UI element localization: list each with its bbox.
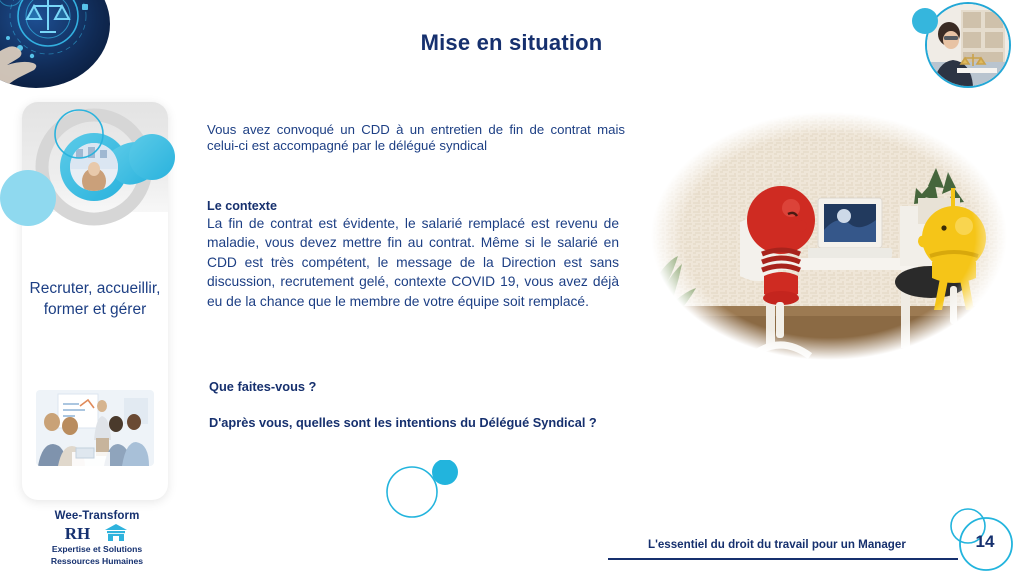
footer-text: L'essentiel du droit du travail pour un … [648,538,906,551]
pagoda-icon [103,524,129,542]
context-body: La fin de contrat est évidente, le salar… [207,214,619,311]
slide-canvas: Mise en situation [0,0,1023,574]
lawyer-at-desk-photo [925,2,1011,88]
question-two: D'après vous, quelles sont les intention… [209,415,597,430]
two-toy-figures-at-desk-photo [648,110,1010,362]
lead-paragraph: Vous avez convoqué un CDD à un entretien… [207,122,625,153]
accent-dot-top-right [912,8,938,34]
decorative-circles [380,460,480,520]
question-one: Que faites-vous ? [209,379,316,394]
sidebar-blob-graphic [0,95,200,275]
brand-name: Wee-Transform [24,510,170,522]
rh-monogram: RH [65,525,91,542]
brand-logo: Wee-Transform RH Expertise et Solutions … [24,510,170,566]
footer-rule [608,558,958,560]
brand-mark: RH [24,524,170,542]
brand-tagline-2: Ressources Humaines [24,556,170,566]
context-heading: Le contexte [207,199,277,213]
page-number: 14 [968,532,1002,552]
brand-tagline-1: Expertise et Solutions [24,544,170,554]
sidebar-item-label: Recruter, accueillir, former et gérer [22,278,168,320]
training-meeting-photo [36,390,154,466]
page-title: Mise en situation [0,30,1023,56]
